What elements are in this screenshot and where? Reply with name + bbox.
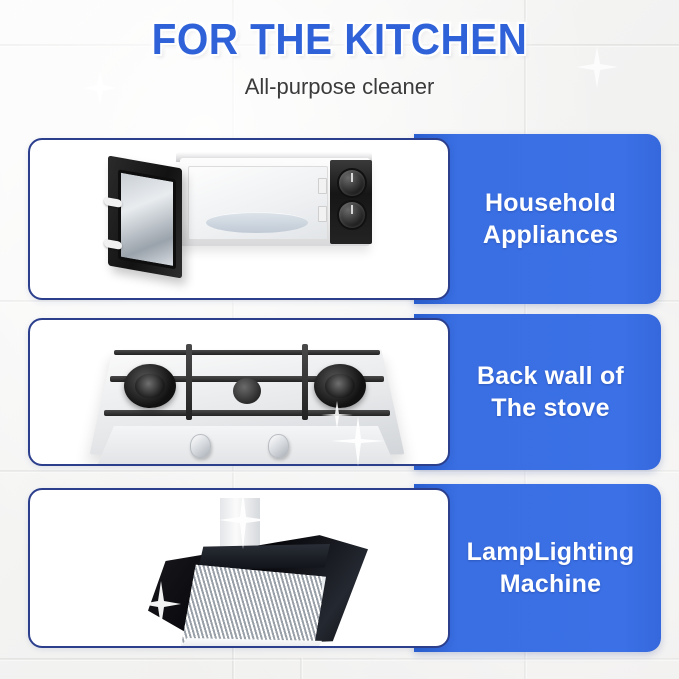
microwave-latch: [318, 178, 327, 194]
label-panel-lamplighting-machine[interactable]: LampLighting Machine: [414, 484, 661, 652]
tile-grout-line: [0, 470, 679, 473]
page-subtitle: All-purpose cleaner: [0, 74, 679, 100]
microwave-power-dial: [337, 168, 367, 198]
microwave-door: [108, 155, 182, 278]
kitchen-infographic-page: FOR THE KITCHEN All-purpose cleaner Hous…: [0, 0, 679, 679]
microwave-illustration: [30, 140, 448, 298]
photo-card-stove: [28, 318, 450, 466]
stove-grate-bar: [104, 410, 390, 416]
label-text: Household Appliances: [449, 187, 626, 251]
label-panel-household-appliances[interactable]: Household Appliances: [414, 134, 661, 304]
stove-center-cap: [233, 378, 261, 404]
tile-grout-line: [0, 658, 679, 661]
microwave-timer-dial: [337, 200, 367, 230]
stove-knob-right[interactable]: [268, 434, 289, 458]
photo-card-range-hood: [28, 488, 450, 648]
gas-stove-illustration: [30, 320, 448, 464]
microwave-turntable: [206, 212, 308, 233]
range-hood-illustration: [30, 490, 448, 646]
feature-row-appliances: Household Appliances: [28, 134, 661, 304]
stove-burner-left: [124, 364, 176, 408]
stove-burner-right: [314, 364, 366, 408]
header: FOR THE KITCHEN All-purpose cleaner: [0, 18, 679, 100]
stove-grate-bar: [114, 350, 380, 355]
label-panel-back-wall-stove[interactable]: Back wall of The stove: [414, 314, 661, 470]
stove-grate-bar: [302, 344, 308, 420]
microwave-door-glass: [118, 169, 176, 269]
tile-grout-line: [300, 658, 303, 679]
feature-row-stove: Back wall of The stove: [28, 314, 661, 470]
page-title: FOR THE KITCHEN: [27, 18, 652, 62]
photo-card-microwave: [28, 138, 450, 300]
label-text: LampLighting Machine: [433, 536, 643, 600]
stove-front-panel: [96, 426, 396, 466]
stove-knob-left[interactable]: [190, 434, 211, 458]
feature-row-range-hood: LampLighting Machine: [28, 484, 661, 652]
range-hood-control-strip: [198, 544, 330, 570]
label-text: Back wall of The stove: [443, 360, 632, 424]
stove-grate-bar: [186, 344, 192, 420]
microwave-latch: [318, 206, 327, 222]
